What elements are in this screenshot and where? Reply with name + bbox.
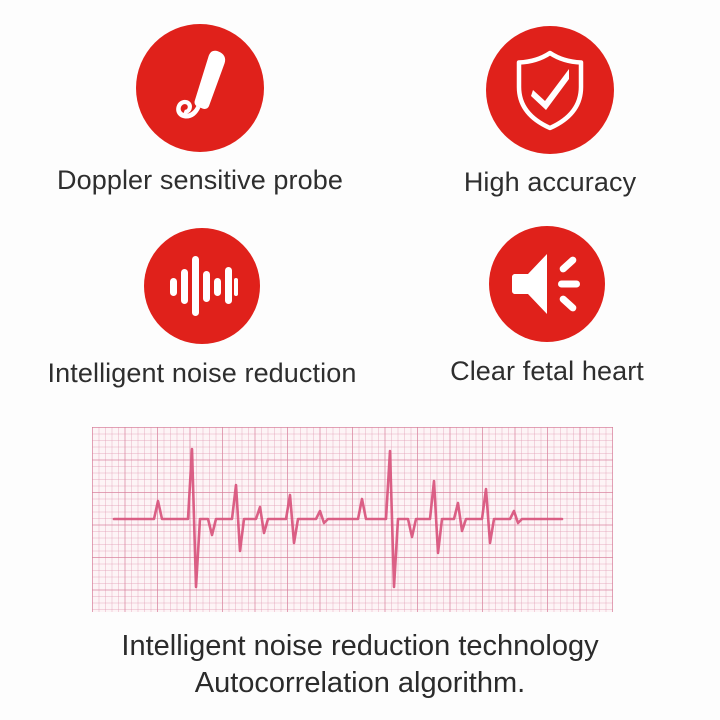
sound-wave-icon	[166, 250, 238, 322]
feature-grid: Doppler sensitive probe High accuracy	[0, 0, 720, 400]
caption-line-2: Autocorrelation algorithm.	[0, 665, 720, 702]
doppler-probe-icon	[162, 47, 238, 129]
ecg-chart	[92, 427, 613, 612]
ecg-waveform-trace	[92, 427, 613, 612]
feature-label: Doppler sensitive probe	[57, 166, 343, 194]
speaker-volume-icon	[509, 250, 585, 318]
feature-clear-fetal-heart[interactable]: Clear fetal heart	[404, 226, 690, 385]
feature-doppler-sensitive-probe[interactable]: Doppler sensitive probe	[0, 24, 400, 194]
feature-label: Clear fetal heart	[450, 357, 644, 385]
feature-high-accuracy[interactable]: High accuracy	[400, 26, 700, 196]
feature-badge	[489, 226, 605, 342]
caption-block: Intelligent noise reduction technology A…	[0, 628, 720, 702]
caption-line-1: Intelligent noise reduction technology	[0, 628, 720, 665]
feature-badge	[136, 24, 264, 152]
promo-page: Doppler sensitive probe High accuracy	[0, 0, 720, 720]
feature-intelligent-noise-reduction[interactable]: Intelligent noise reduction	[0, 228, 404, 387]
feature-badge	[486, 26, 614, 154]
feature-label: High accuracy	[464, 168, 636, 196]
feature-label: Intelligent noise reduction	[48, 359, 357, 387]
shield-check-icon	[511, 49, 589, 131]
feature-badge	[144, 228, 260, 344]
